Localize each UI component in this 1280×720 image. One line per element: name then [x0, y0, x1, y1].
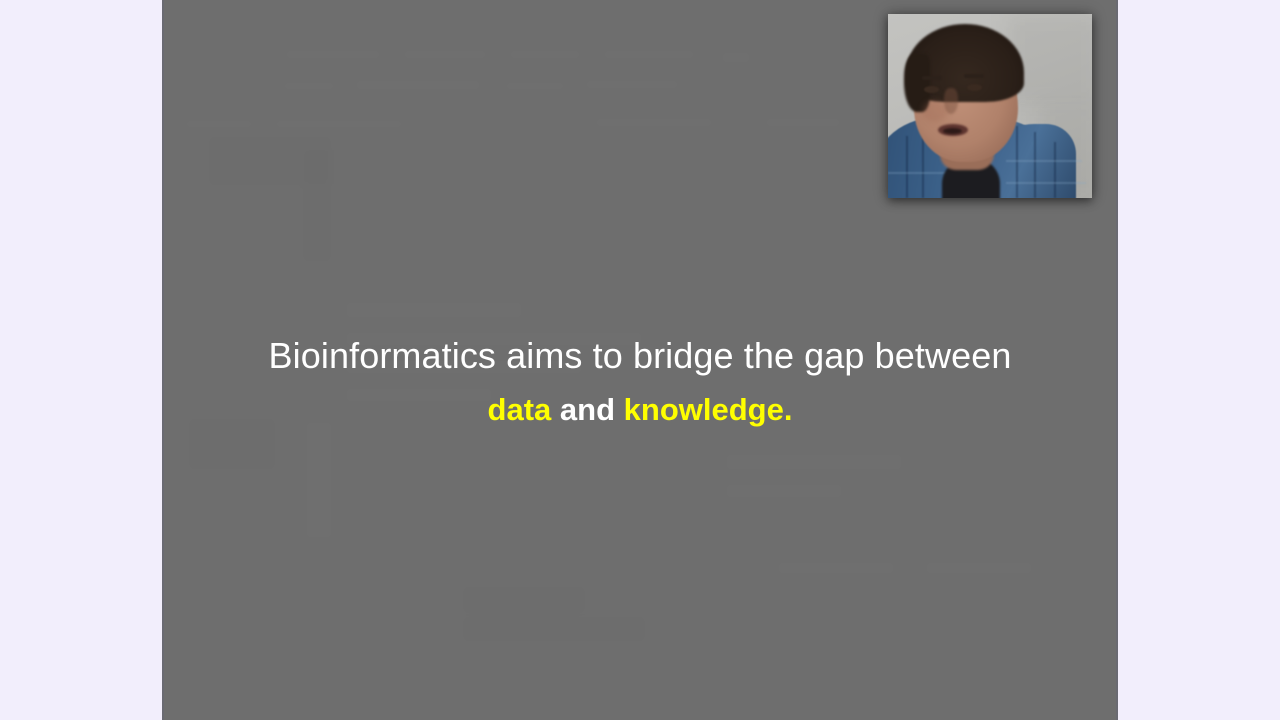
speaker-brow-right — [964, 74, 984, 78]
video-stage[interactable]: Bioinformatics aims to bridge the gap be… — [162, 0, 1118, 720]
speaker-nose — [944, 88, 958, 114]
speaker-eye-left — [924, 86, 939, 93]
caption-line-2: data and knowledge. — [164, 391, 1116, 429]
webcam-video-feed — [888, 14, 1092, 198]
video-caption: Bioinformatics aims to bridge the gap be… — [164, 334, 1116, 429]
speaker-webcam-overlay[interactable] — [888, 14, 1092, 198]
speaker-eye-right — [967, 84, 982, 91]
caption-line-1: Bioinformatics aims to bridge the gap be… — [164, 334, 1116, 378]
speaker-brow-left — [922, 76, 942, 80]
caption-conjunction: and — [551, 392, 623, 427]
speaker-mouth-opening — [943, 128, 962, 134]
caption-keyword-data: data — [488, 392, 552, 427]
caption-keyword-knowledge: knowledge. — [624, 392, 793, 427]
